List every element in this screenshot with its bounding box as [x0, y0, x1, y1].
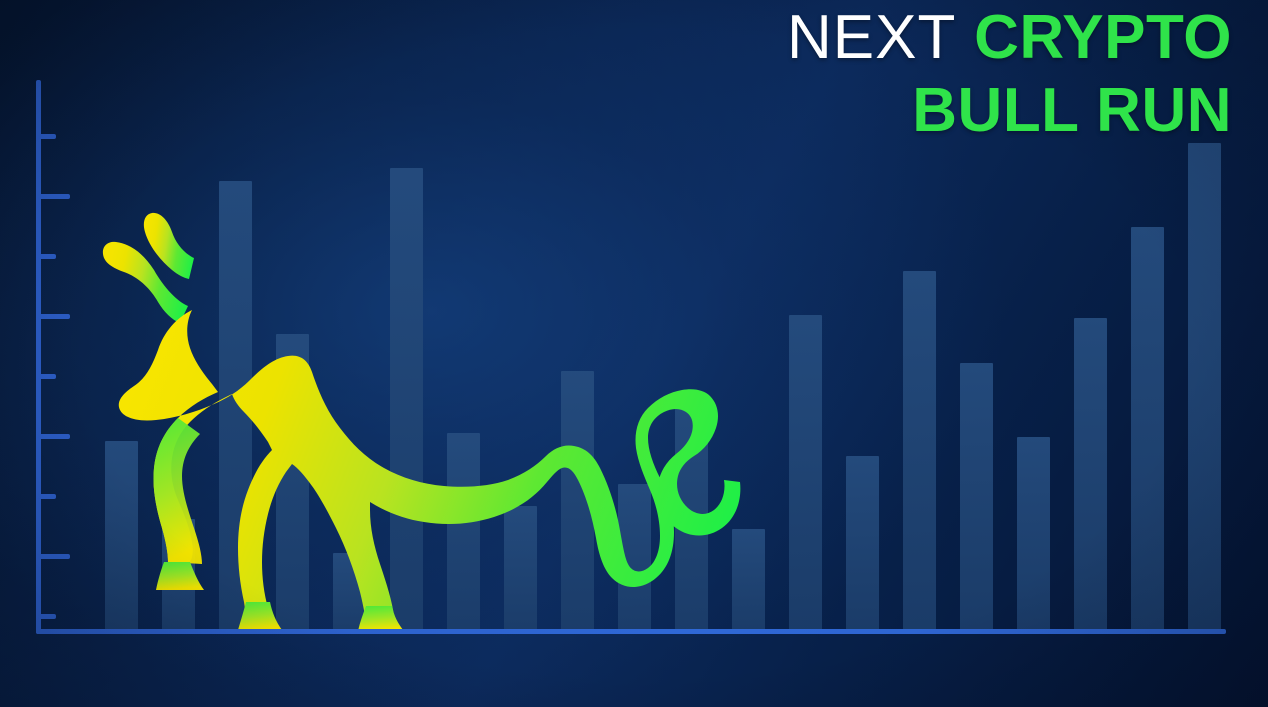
headline-line-2: BULL RUN [787, 81, 1232, 142]
headline: NEXT CRYPTO BULL RUN [787, 8, 1232, 142]
headline-line-1: NEXT CRYPTO [787, 8, 1232, 69]
poster-canvas: NEXT CRYPTO BULL RUN [0, 0, 1268, 707]
headline-word-crypto: CRYPTO [974, 3, 1232, 72]
headline-word-next: NEXT [787, 3, 956, 72]
headline-word-bull-run: BULL RUN [912, 76, 1232, 145]
